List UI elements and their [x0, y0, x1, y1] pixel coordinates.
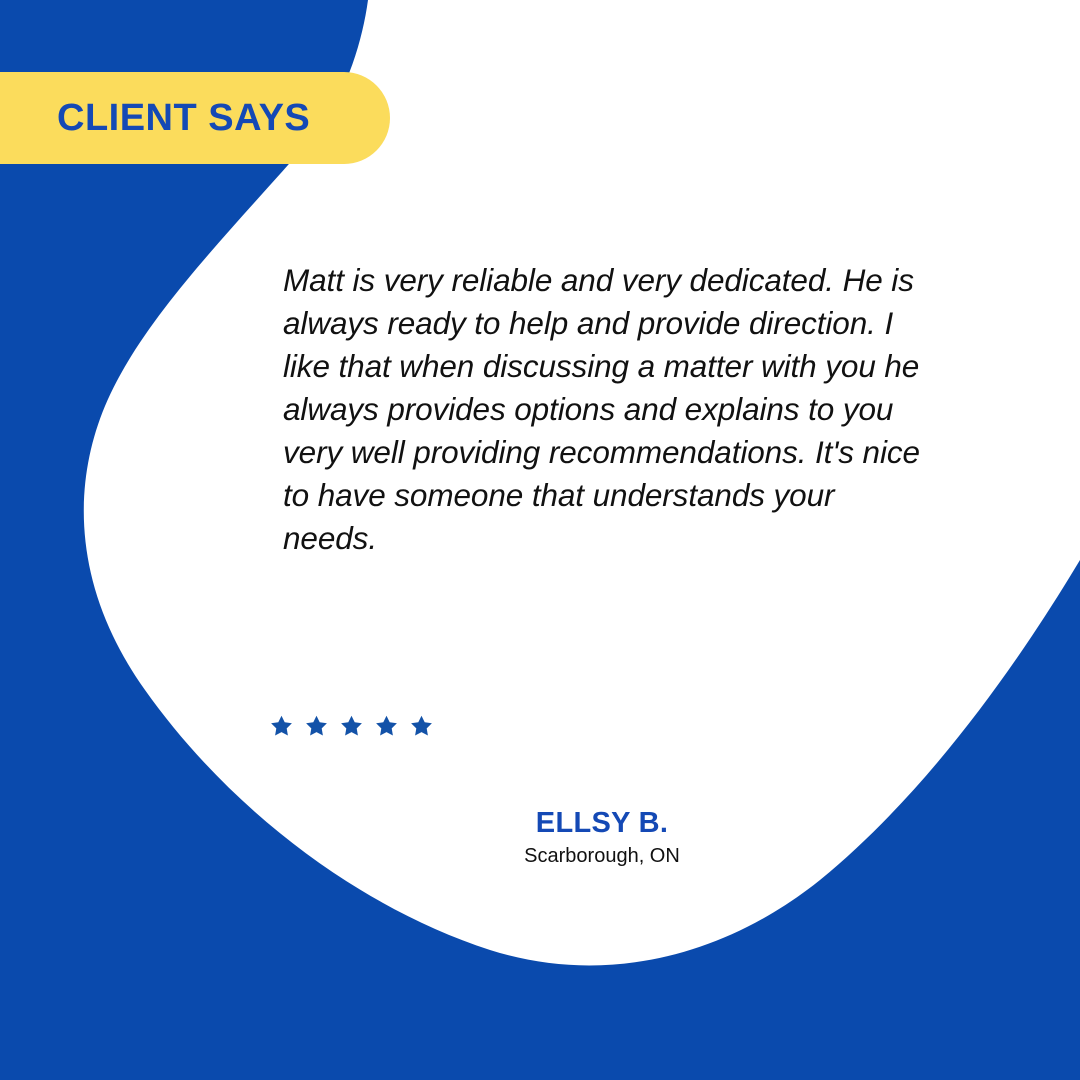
testimonial-graphic: CLIENT SAYS Matt is very reliable and ve…	[0, 0, 1080, 1080]
star-icon	[374, 714, 399, 738]
testimonial-quote: Matt is very reliable and very dedicated…	[283, 259, 933, 560]
star-icon	[304, 714, 329, 738]
author-name: ELLSY B.	[392, 805, 812, 841]
star-icon	[339, 714, 364, 738]
attribution: ELLSY B. Scarborough, ON	[392, 805, 812, 870]
badge-label: CLIENT SAYS	[57, 99, 310, 137]
author-location: Scarborough, ON	[392, 842, 812, 870]
client-says-badge: CLIENT SAYS	[0, 72, 390, 164]
star-rating	[269, 714, 434, 738]
star-icon	[269, 714, 294, 738]
star-icon	[409, 714, 434, 738]
